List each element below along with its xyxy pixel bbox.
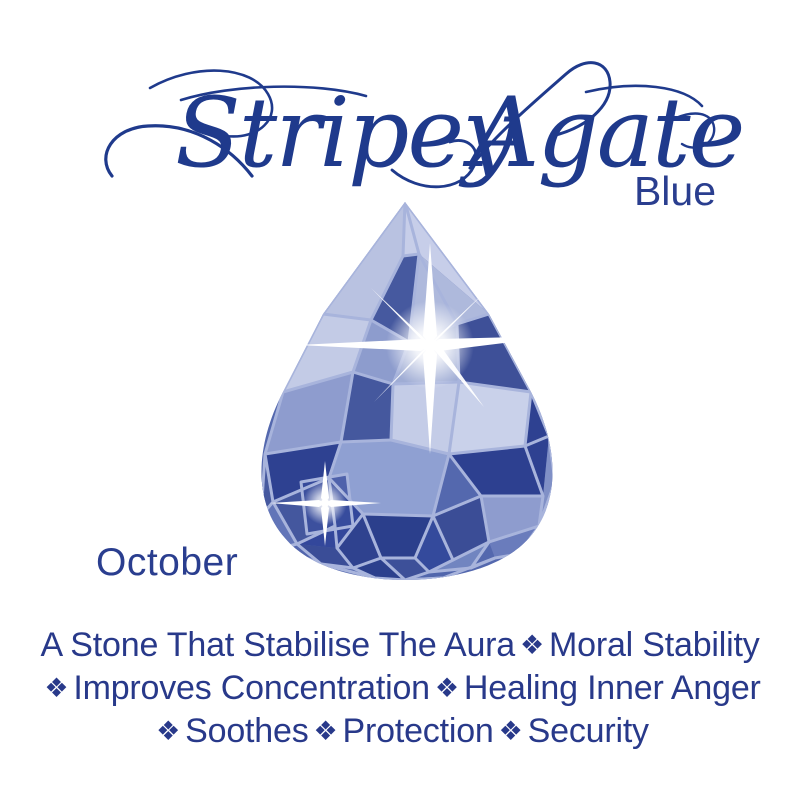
gemstone-illustration [243, 196, 573, 581]
property-item: Improves Concentration [73, 669, 430, 707]
property-line: ❖Improves Concentration❖Healing Inner An… [0, 667, 800, 710]
property-separator-icon: ❖ [309, 710, 343, 753]
gemstone-info-card: .scriptTxt { font-family: "DejaVu Serif"… [0, 0, 800, 800]
property-separator-icon: ❖ [430, 667, 464, 710]
property-line: A Stone That Stabilise The Aura❖Moral St… [0, 624, 800, 667]
property-item: Moral Stability [549, 626, 760, 664]
property-line: ❖Soothes❖Protection❖Security [0, 710, 800, 753]
gemstone-svg [243, 196, 573, 581]
title-block: .scriptTxt { font-family: "DejaVu Serif"… [0, 44, 800, 184]
properties-list: A Stone That Stabilise The Aura❖Moral St… [0, 624, 800, 753]
property-item: Healing Inner Anger [464, 669, 761, 707]
month-label: October [96, 541, 238, 585]
property-separator-icon: ❖ [515, 624, 549, 667]
gem-facets [243, 196, 573, 581]
property-item: Soothes [185, 712, 308, 750]
property-separator-icon: ❖ [39, 667, 73, 710]
property-separator-icon: ❖ [151, 710, 185, 753]
property-item: Security [528, 712, 649, 750]
property-item: A Stone That Stabilise The Aura [40, 626, 515, 664]
property-item: Protection [343, 712, 494, 750]
property-separator-icon: ❖ [494, 710, 528, 753]
